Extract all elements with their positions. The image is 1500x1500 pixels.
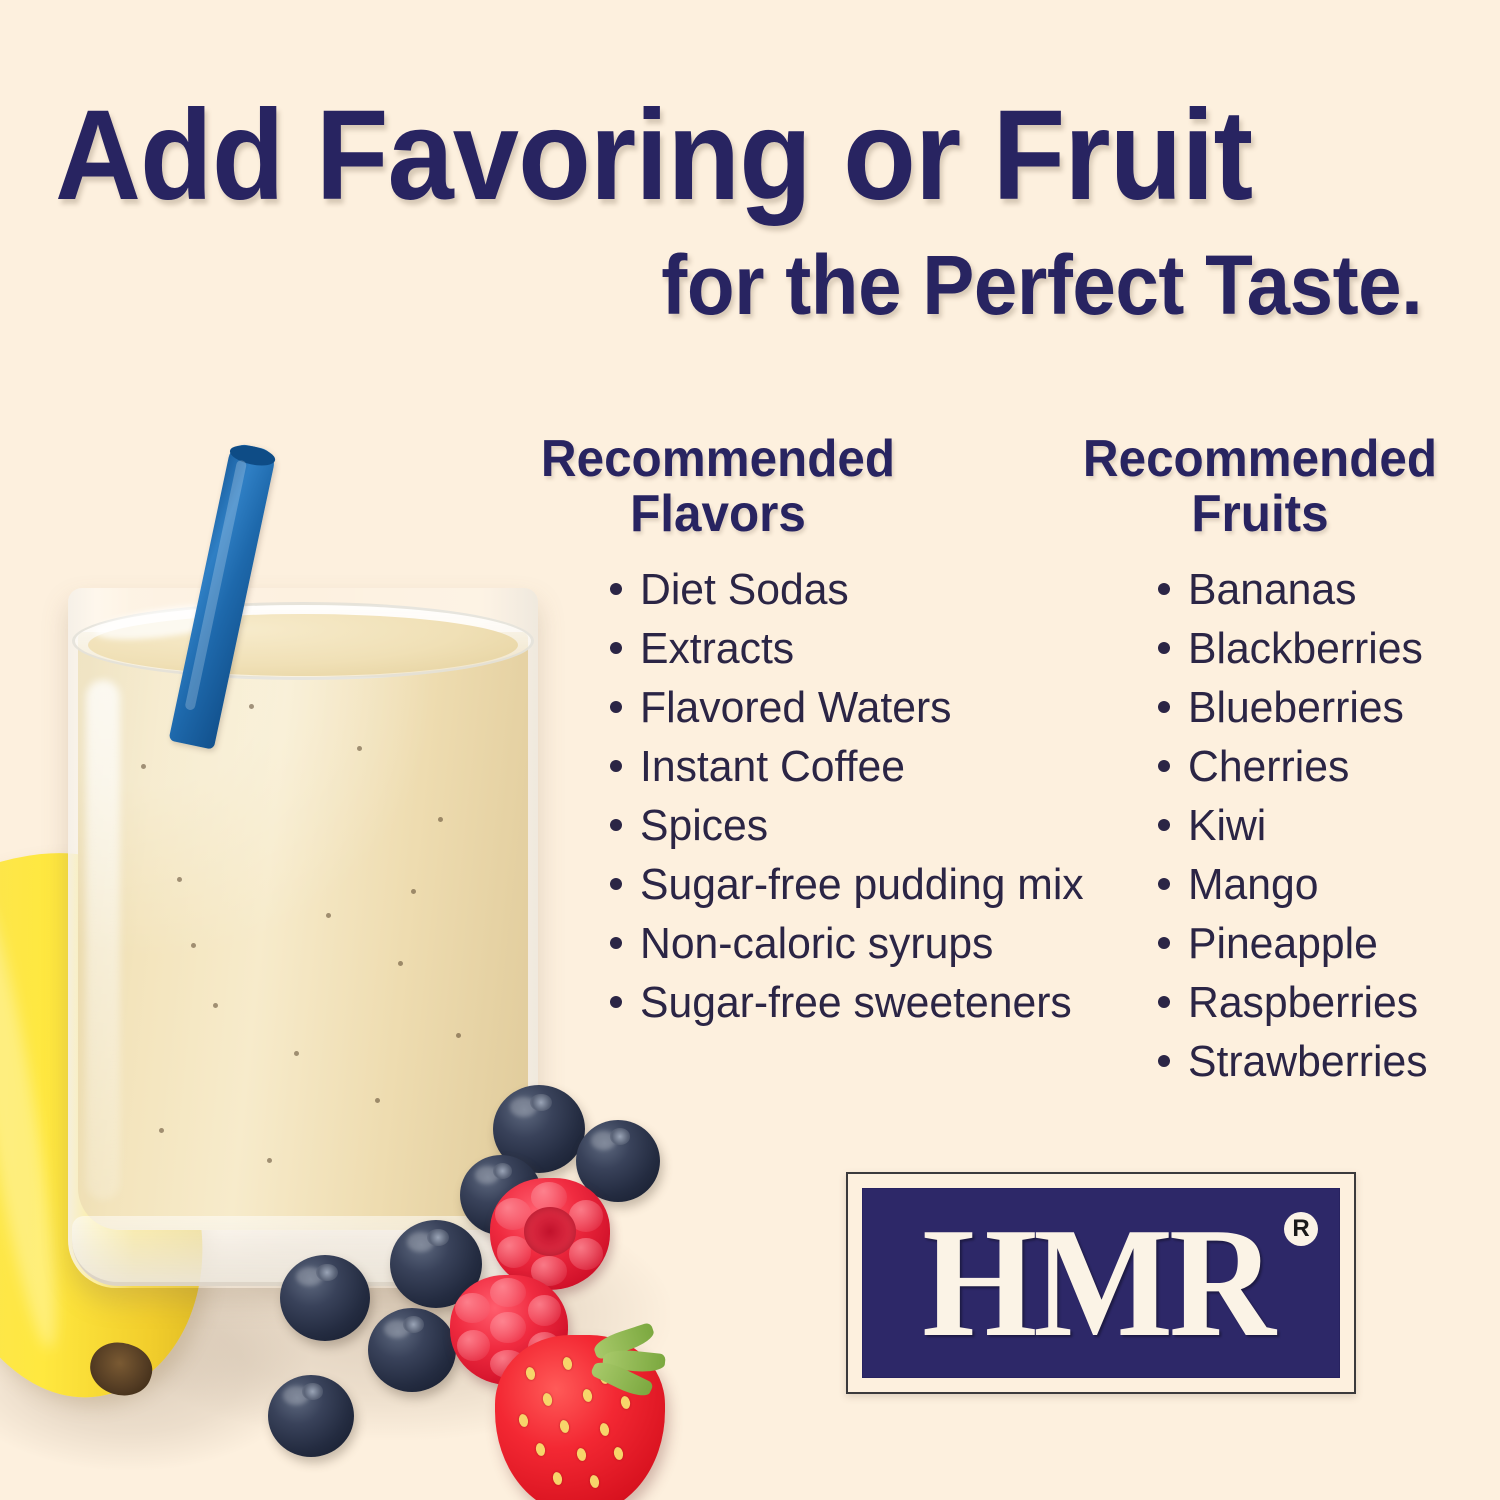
fruits-heading: Recommended Fruits [1042, 432, 1479, 542]
list-item: Kiwi [1158, 804, 1500, 848]
blueberry [268, 1375, 354, 1457]
bullet-icon [610, 937, 622, 949]
fruit-label: Blackberries [1188, 627, 1423, 671]
fruit-label: Bananas [1188, 568, 1356, 612]
headline-line-2: for the Perfect Taste. [661, 243, 1422, 327]
flavor-label: Spices [640, 804, 768, 848]
fruits-heading-line-2: Fruits [1042, 487, 1479, 542]
flavor-label: Extracts [640, 627, 794, 671]
flavors-heading-line-2: Flavors [509, 487, 927, 542]
bullet-icon [610, 819, 622, 831]
flavor-label: Diet Sodas [640, 568, 849, 612]
list-item: Cherries [1158, 745, 1500, 789]
flavor-label: Non-caloric syrups [640, 922, 993, 966]
bullet-icon [610, 583, 622, 595]
bullet-icon [610, 996, 622, 1008]
flavor-label: Flavored Waters [640, 686, 952, 730]
bullet-icon [1158, 1055, 1170, 1067]
poster-canvas: Add Favoring or Fruit for the Perfect Ta… [0, 0, 1500, 1500]
blueberry [280, 1255, 370, 1341]
bullet-icon [1158, 819, 1170, 831]
strawberry [495, 1335, 665, 1500]
bullet-icon [610, 701, 622, 713]
bullet-icon [610, 642, 622, 654]
list-item: Mango [1158, 863, 1500, 907]
bullet-icon [1158, 937, 1170, 949]
fruits-list: Bananas Blackberries Blueberries Cherrie… [1158, 568, 1500, 1084]
smoothie-liquid [78, 632, 528, 1230]
bullet-icon [1158, 878, 1170, 890]
flavor-label: Instant Coffee [640, 745, 905, 789]
bullet-icon [1158, 760, 1170, 772]
bullet-icon [1158, 701, 1170, 713]
fruit-label: Raspberries [1188, 981, 1418, 1025]
flavors-heading: Recommended Flavors [509, 432, 927, 542]
fruit-label: Strawberries [1188, 1040, 1428, 1084]
list-item: Strawberries [1158, 1040, 1500, 1084]
fruit-label: Mango [1188, 863, 1319, 907]
headline-line-1: Add Favoring or Fruit [55, 92, 1338, 220]
fruit-label: Cherries [1188, 745, 1349, 789]
bullet-icon [1158, 583, 1170, 595]
registered-trademark-icon: R [1284, 1212, 1318, 1246]
list-item: Bananas [1158, 568, 1500, 612]
flavors-heading-line-1: Recommended [541, 430, 895, 488]
raspberry [490, 1178, 610, 1290]
recommended-fruits-column: Recommended Fruits Bananas Blackberries … [1030, 432, 1500, 1099]
list-item: Blueberries [1158, 686, 1500, 730]
fruit-label: Kiwi [1188, 804, 1266, 848]
fruits-heading-line-1: Recommended [1083, 430, 1437, 488]
flavor-label: Sugar-free sweeteners [640, 981, 1072, 1025]
bullet-icon [610, 878, 622, 890]
fruit-label: Blueberries [1188, 686, 1404, 730]
glass-side-highlight [86, 680, 120, 1200]
fruit-label: Pineapple [1188, 922, 1378, 966]
hmr-wordmark: HMR [922, 1205, 1272, 1362]
hmr-logo: HMR R [846, 1172, 1356, 1394]
bullet-icon [1158, 642, 1170, 654]
flavor-label: Sugar-free pudding mix [640, 863, 1084, 907]
list-item: Pineapple [1158, 922, 1500, 966]
blueberry [368, 1308, 456, 1392]
list-item: Raspberries [1158, 981, 1500, 1025]
strawberry-calyx [587, 1329, 679, 1393]
list-item: Blackberries [1158, 627, 1500, 671]
hmr-logo-plate: HMR R [862, 1188, 1340, 1378]
bullet-icon [610, 760, 622, 772]
bullet-icon [1158, 996, 1170, 1008]
